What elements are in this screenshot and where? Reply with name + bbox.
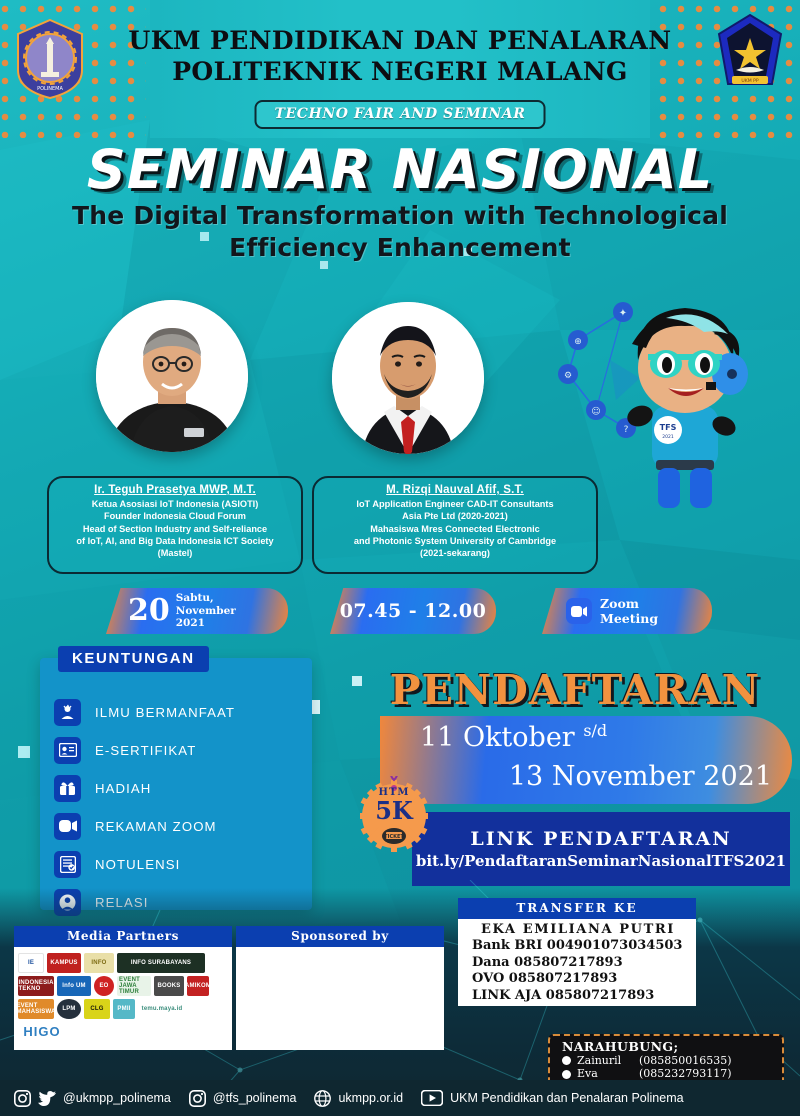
- htm-price-text: HTM 5K: [356, 776, 432, 852]
- contact-heading: NARAHUBUNG;: [562, 1039, 782, 1054]
- globe-icon[interactable]: [314, 1090, 331, 1107]
- partner-logo: HIGO: [18, 1022, 66, 1040]
- sponsored-by-box: Sponsored by: [236, 926, 444, 1050]
- svg-text:?: ?: [624, 425, 629, 435]
- social-footer: @ukmpp_polinema @tfs_polinema ukmpp.or.i…: [0, 1080, 800, 1116]
- partner-logo: temu.maya.id: [138, 999, 186, 1019]
- speaker-photo-2: [332, 302, 484, 454]
- partner-logo: INFO SURABAYANS: [117, 953, 205, 973]
- transfer-line-bri: Bank BRI 004901073034503: [472, 938, 696, 954]
- handle-ukmpp[interactable]: @ukmpp_polinema: [63, 1091, 171, 1105]
- speaker-1-role-3: Head of Section Industry and Self-relian…: [57, 523, 293, 535]
- transfer-details: EKA EMILIANA PUTRI Bank BRI 004901073034…: [458, 919, 696, 1004]
- benefit-item-hadiah: HADIAH: [54, 770, 304, 806]
- benefits-heading: KEUNTUNGAN: [58, 646, 209, 672]
- partner-logo: CLG: [84, 999, 110, 1019]
- transfer-line-dana: Dana 085807217893: [472, 955, 696, 971]
- event-date-text: Sabtu, November 2021: [176, 592, 236, 629]
- speaker-2-role-2: Asia Pte Ltd (2020-2021): [322, 510, 588, 522]
- transfer-box: TRANSFER KE EKA EMILIANA PUTRI Bank BRI …: [458, 898, 696, 1006]
- speaker-1-role-4: of IoT, AI, and Big Data Indonesia ICT S…: [57, 535, 293, 547]
- registration-link-url[interactable]: bit.ly/PendaftaranSeminarNasionalTFS2021: [416, 852, 786, 870]
- svg-text:UKM PP: UKM PP: [741, 78, 759, 84]
- event-time-text: 07.45 - 12.00: [340, 600, 487, 622]
- benefit-label: HADIAH: [95, 781, 151, 796]
- partner-logo: KAMPUS: [47, 953, 81, 973]
- org-line-1: UKM PENDIDIKAN DAN PENALARAN: [110, 26, 690, 57]
- svg-text:⚙: ⚙: [564, 371, 572, 381]
- benefit-item-ilmu: ILMU BERMANFAAT: [54, 694, 304, 730]
- htm-price: 5K: [375, 799, 413, 823]
- transfer-account-name: EKA EMILIANA PUTRI: [472, 922, 696, 938]
- svg-text:☺: ☺: [591, 406, 600, 417]
- mascot-illustration: ✦ ⊕ ⚙ ☺ ? TFS 2021: [548, 282, 798, 508]
- speaker-1-role-5: (Mastel): [57, 547, 293, 559]
- partner-logo: EO: [94, 976, 114, 996]
- org-line-2: POLITEKNIK NEGERI MALANG: [110, 57, 690, 88]
- notes-icon: [54, 851, 81, 878]
- speaker-card-2: M. Rizqi Nauval Afif, S.T. IoT Applicati…: [312, 476, 598, 574]
- partner-logo: IE: [18, 953, 44, 973]
- event-platform-ribbon: Zoom Meeting: [542, 588, 712, 634]
- speaker-photo-1: [96, 300, 248, 452]
- instagram-icon[interactable]: [189, 1090, 206, 1107]
- event-date-ribbon: 20 Sabtu, November 2021: [106, 588, 288, 634]
- contact-person-1: Zainuril (085850016535): [562, 1054, 782, 1067]
- poster-header: POLINEMA UKM PP UKM PENDIDIKAN DAN PENAL…: [0, 0, 800, 138]
- benefits-panel: KEUNTUNGAN ILMU BERMANFAAT E-SERTIFIKAT …: [40, 658, 312, 910]
- techno-fair-badge: TECHNO FAIR AND SEMINAR: [255, 100, 546, 129]
- polinema-logo-icon: POLINEMA: [14, 18, 86, 100]
- svg-text:POLINEMA: POLINEMA: [37, 86, 63, 92]
- svg-text:2021: 2021: [662, 434, 674, 440]
- partner-logo: EVENT JAWA TIMUR: [117, 976, 151, 996]
- contact-name: Zainuril: [577, 1054, 639, 1067]
- instagram-icon[interactable]: [14, 1090, 31, 1107]
- registration-title: PENDAFTARAN: [380, 666, 770, 714]
- registration-date-from: 11 Oktober: [420, 722, 575, 753]
- handle-tfs[interactable]: @tfs_polinema: [213, 1091, 297, 1105]
- transfer-line-linkaja: LINK AJA 085807217893: [472, 988, 696, 1004]
- speaker-1-portrait: [96, 300, 248, 452]
- zoom-camera-icon: [566, 598, 592, 624]
- benefit-label: REKAMAN ZOOM: [95, 819, 217, 834]
- event-date-line-1: Sabtu,: [176, 592, 236, 604]
- svg-text:✦: ✦: [619, 308, 627, 319]
- partner-logo: LPM: [57, 999, 81, 1019]
- deco-square: [18, 746, 30, 758]
- transfer-heading: TRANSFER KE: [458, 898, 696, 919]
- speaker-1-name: Ir. Teguh Prasetya MWP, M.T.: [57, 484, 293, 496]
- partner-logo: PMII: [113, 999, 135, 1019]
- speaker-2-role-1: IoT Application Engineer CAD-IT Consulta…: [322, 498, 588, 510]
- benefit-label: NOTULENSI: [95, 857, 180, 872]
- event-day-number: 20: [128, 596, 170, 626]
- contact-box: NARAHUBUNG; Zainuril (085850016535) Eva …: [548, 1034, 784, 1086]
- speaker-2-role-5: (2021-sekarang): [322, 547, 588, 559]
- partner-logo: Info UM: [57, 976, 91, 996]
- speaker-1-role-2: Founder Indonesia Cloud Forum: [57, 510, 293, 522]
- media-partners-heading: Media Partners: [14, 926, 232, 947]
- contact-name: Eva: [577, 1067, 639, 1080]
- benefit-item-rekaman: REKAMAN ZOOM: [54, 808, 304, 844]
- event-date-line-3: 2021: [176, 617, 236, 629]
- transfer-line-ovo: OVO 085807217893: [472, 971, 696, 987]
- media-partners-box: Media Partners IE KAMPUS INFO INFO SURAB…: [14, 926, 232, 1050]
- partner-logo: EVENT MAHASISWA: [18, 999, 54, 1019]
- page-subtitle: The Digital Transformation with Technolo…: [40, 200, 760, 264]
- registration-link-box[interactable]: LINK PENDAFTARAN bit.ly/PendaftaranSemin…: [412, 812, 790, 886]
- registration-sd: s/d: [583, 721, 607, 740]
- benefit-item-sertifikat: E-SERTIFIKAT: [54, 732, 304, 768]
- video-icon: [54, 813, 81, 840]
- partner-logo: BOOKS: [154, 976, 184, 996]
- speaker-card-1: Ir. Teguh Prasetya MWP, M.T. Ketua Asosi…: [47, 476, 303, 574]
- benefit-item-notulensi: NOTULENSI: [54, 846, 304, 882]
- platform-line-2: Meeting: [600, 611, 658, 626]
- contact-phone: (085232793117): [639, 1067, 732, 1080]
- sponsored-by-heading: Sponsored by: [236, 926, 444, 947]
- speaker-2-portrait: [332, 302, 484, 454]
- benefit-label: E-SERTIFIKAT: [95, 743, 196, 758]
- organization-title: UKM PENDIDIKAN DAN PENALARAN POLITEKNIK …: [110, 26, 690, 87]
- gift-icon: [54, 775, 81, 802]
- speaker-2-name: M. Rizqi Nauval Afif, S.T.: [322, 484, 588, 496]
- svg-text:TFS: TFS: [660, 423, 677, 432]
- subtitle-line-2: Efficiency Enhancement: [40, 232, 760, 264]
- ukmpp-logo-icon: UKM PP: [714, 12, 786, 94]
- event-date-line-2: November: [176, 605, 236, 617]
- event-platform-text: Zoom Meeting: [600, 596, 658, 626]
- seminar-poster: POLINEMA UKM PP UKM PENDIDIKAN DAN PENAL…: [0, 0, 800, 1116]
- contact-phone: (085850016535): [639, 1054, 732, 1067]
- registration-date-from-row: 11 Oktober s/d: [404, 718, 780, 757]
- svg-text:⊕: ⊕: [574, 337, 582, 347]
- contact-person-2: Eva (085232793117): [562, 1067, 782, 1080]
- knowledge-icon: [54, 699, 81, 726]
- whatsapp-icon: [562, 1070, 571, 1079]
- partner-logo: INDONESIA TEKNO: [18, 976, 54, 996]
- htm-price-badge: TICKET HTM 5K: [356, 776, 432, 852]
- event-time-ribbon: 07.45 - 12.00: [330, 588, 496, 634]
- platform-line-1: Zoom: [600, 596, 658, 611]
- media-partners-logos: IE KAMPUS INFO INFO SURABAYANS INDONESIA…: [14, 947, 232, 1046]
- partner-logo: AMIKOM: [187, 976, 209, 996]
- benefit-label: ILMU BERMANFAAT: [95, 705, 235, 720]
- registration-date-to: 13 November 2021: [404, 757, 780, 796]
- subtitle-line-1: The Digital Transformation with Technolo…: [40, 200, 760, 232]
- certificate-icon: [54, 737, 81, 764]
- youtube-icon[interactable]: [421, 1090, 443, 1106]
- partner-logo: INFO: [84, 953, 114, 973]
- deco-square: [352, 676, 362, 686]
- twitter-icon[interactable]: [38, 1091, 56, 1106]
- registration-link-label: LINK PENDAFTARAN: [470, 828, 731, 850]
- speaker-1-role-1: Ketua Asosiasi IoT Indonesia (ASIOTI): [57, 498, 293, 510]
- registration-dates: 11 Oktober s/d 13 November 2021: [404, 718, 780, 796]
- website-url[interactable]: ukmpp.or.id: [338, 1091, 403, 1105]
- speaker-2-role-3: Mahasiswa Mres Connected Electronic: [322, 523, 588, 535]
- youtube-channel[interactable]: UKM Pendidikan dan Penalaran Polinema: [450, 1091, 683, 1105]
- whatsapp-icon: [562, 1056, 571, 1065]
- page-title: SEMINAR NASIONAL: [0, 138, 800, 201]
- speaker-2-role-4: and Photonic System University of Cambri…: [322, 535, 588, 547]
